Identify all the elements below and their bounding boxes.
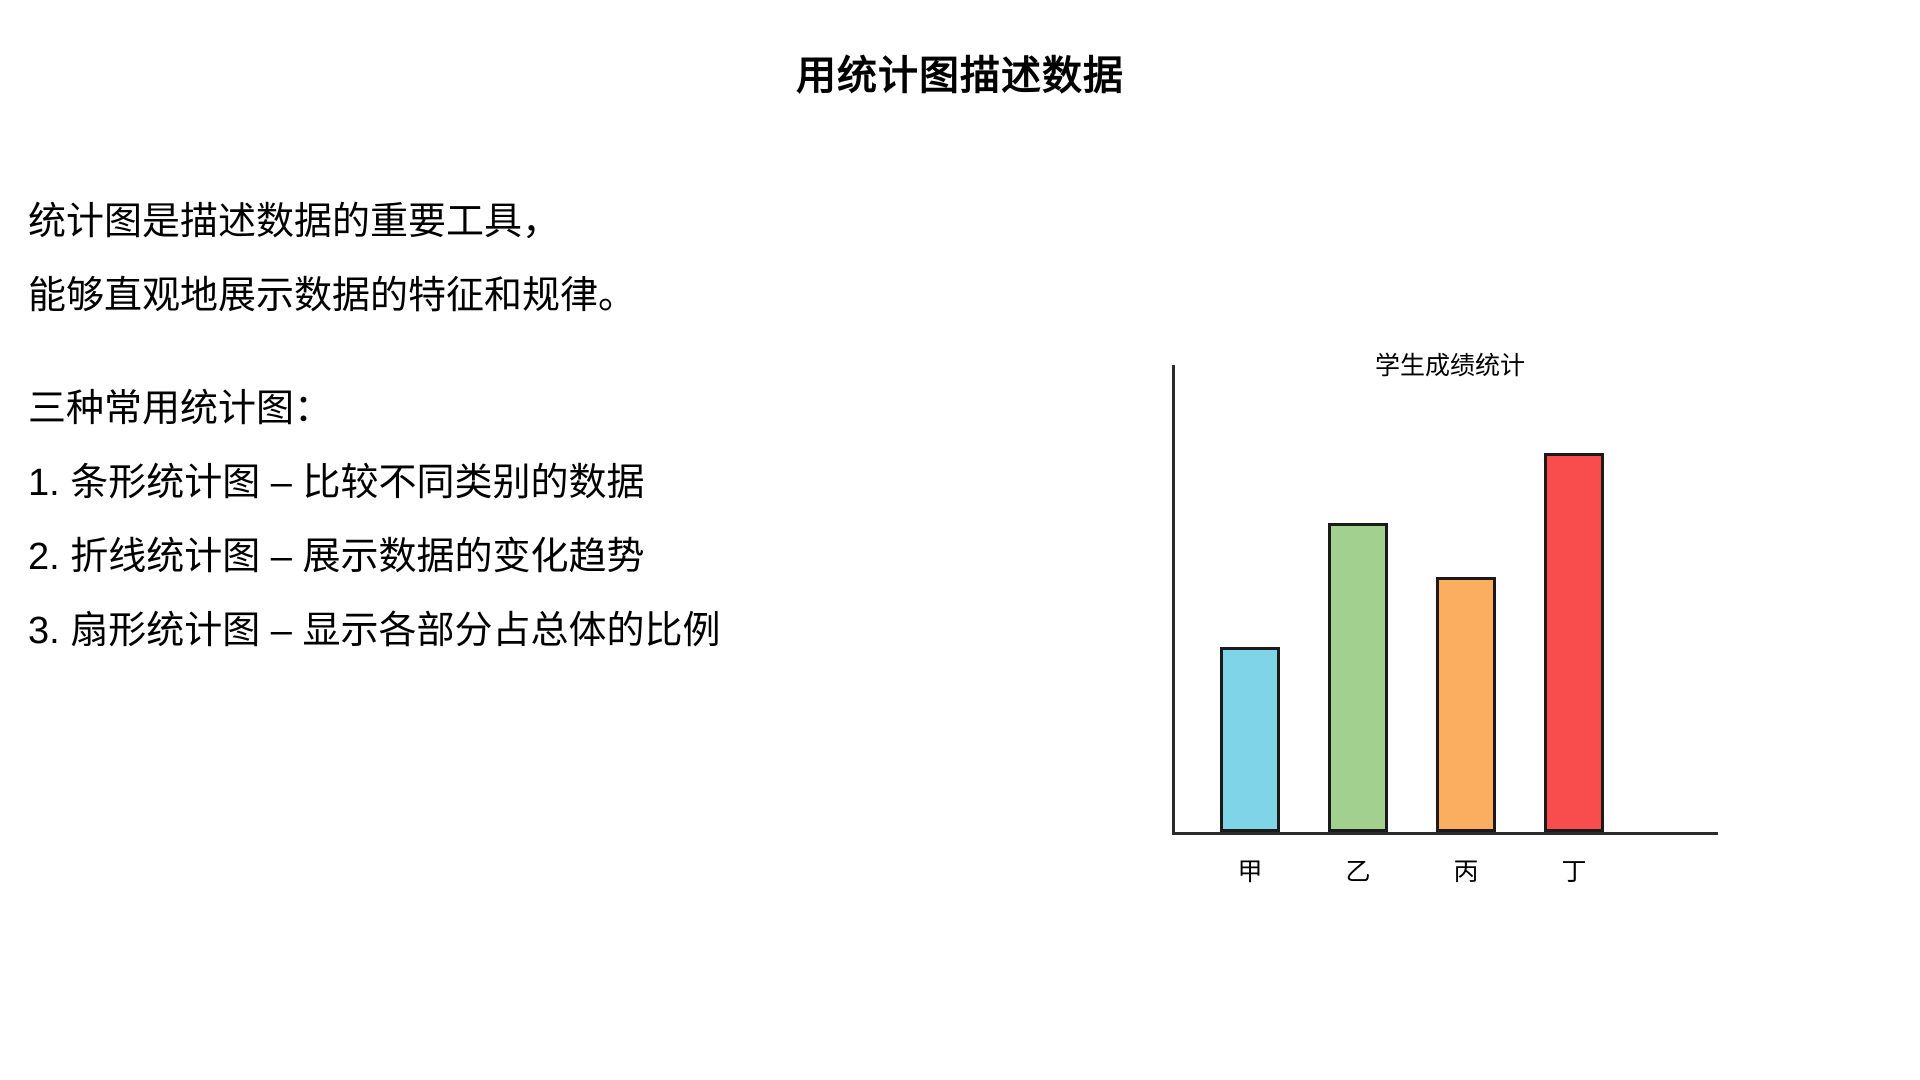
x-label-甲: 甲 — [1210, 852, 1290, 888]
page-title: 用统计图描述数据 — [0, 52, 1920, 100]
x-label-乙: 乙 — [1318, 852, 1398, 888]
bar-chart: 学生成绩统计 甲乙丙丁 — [1140, 340, 1760, 900]
list-heading: 三种常用统计图： — [28, 372, 1088, 446]
list-item-line-chart: 2. 折线统计图 – 展示数据的变化趋势 — [28, 520, 1088, 594]
list-item-pie-chart: 3. 扇形统计图 – 显示各部分占总体的比例 — [28, 594, 1088, 668]
x-label-丙: 丙 — [1426, 852, 1506, 888]
bar-丁 — [1544, 453, 1604, 832]
x-axis-line — [1172, 832, 1718, 835]
list-item-bar-chart: 1. 条形统计图 – 比较不同类别的数据 — [28, 446, 1088, 520]
chart-plot-area: 甲乙丙丁 — [1140, 340, 1760, 900]
bar-丙 — [1436, 577, 1496, 832]
paragraph-line-2: 能够直观地展示数据的特征和规律。 — [28, 259, 1028, 333]
x-label-丁: 丁 — [1534, 852, 1614, 888]
chart-types-list: 三种常用统计图： 1. 条形统计图 – 比较不同类别的数据 2. 折线统计图 –… — [28, 372, 1088, 668]
bar-乙 — [1328, 523, 1388, 832]
y-axis-line — [1172, 365, 1175, 835]
bar-甲 — [1220, 647, 1280, 832]
paragraph-line-1: 统计图是描述数据的重要工具， — [28, 185, 1028, 259]
intro-paragraph: 统计图是描述数据的重要工具， 能够直观地展示数据的特征和规律。 — [28, 185, 1028, 333]
